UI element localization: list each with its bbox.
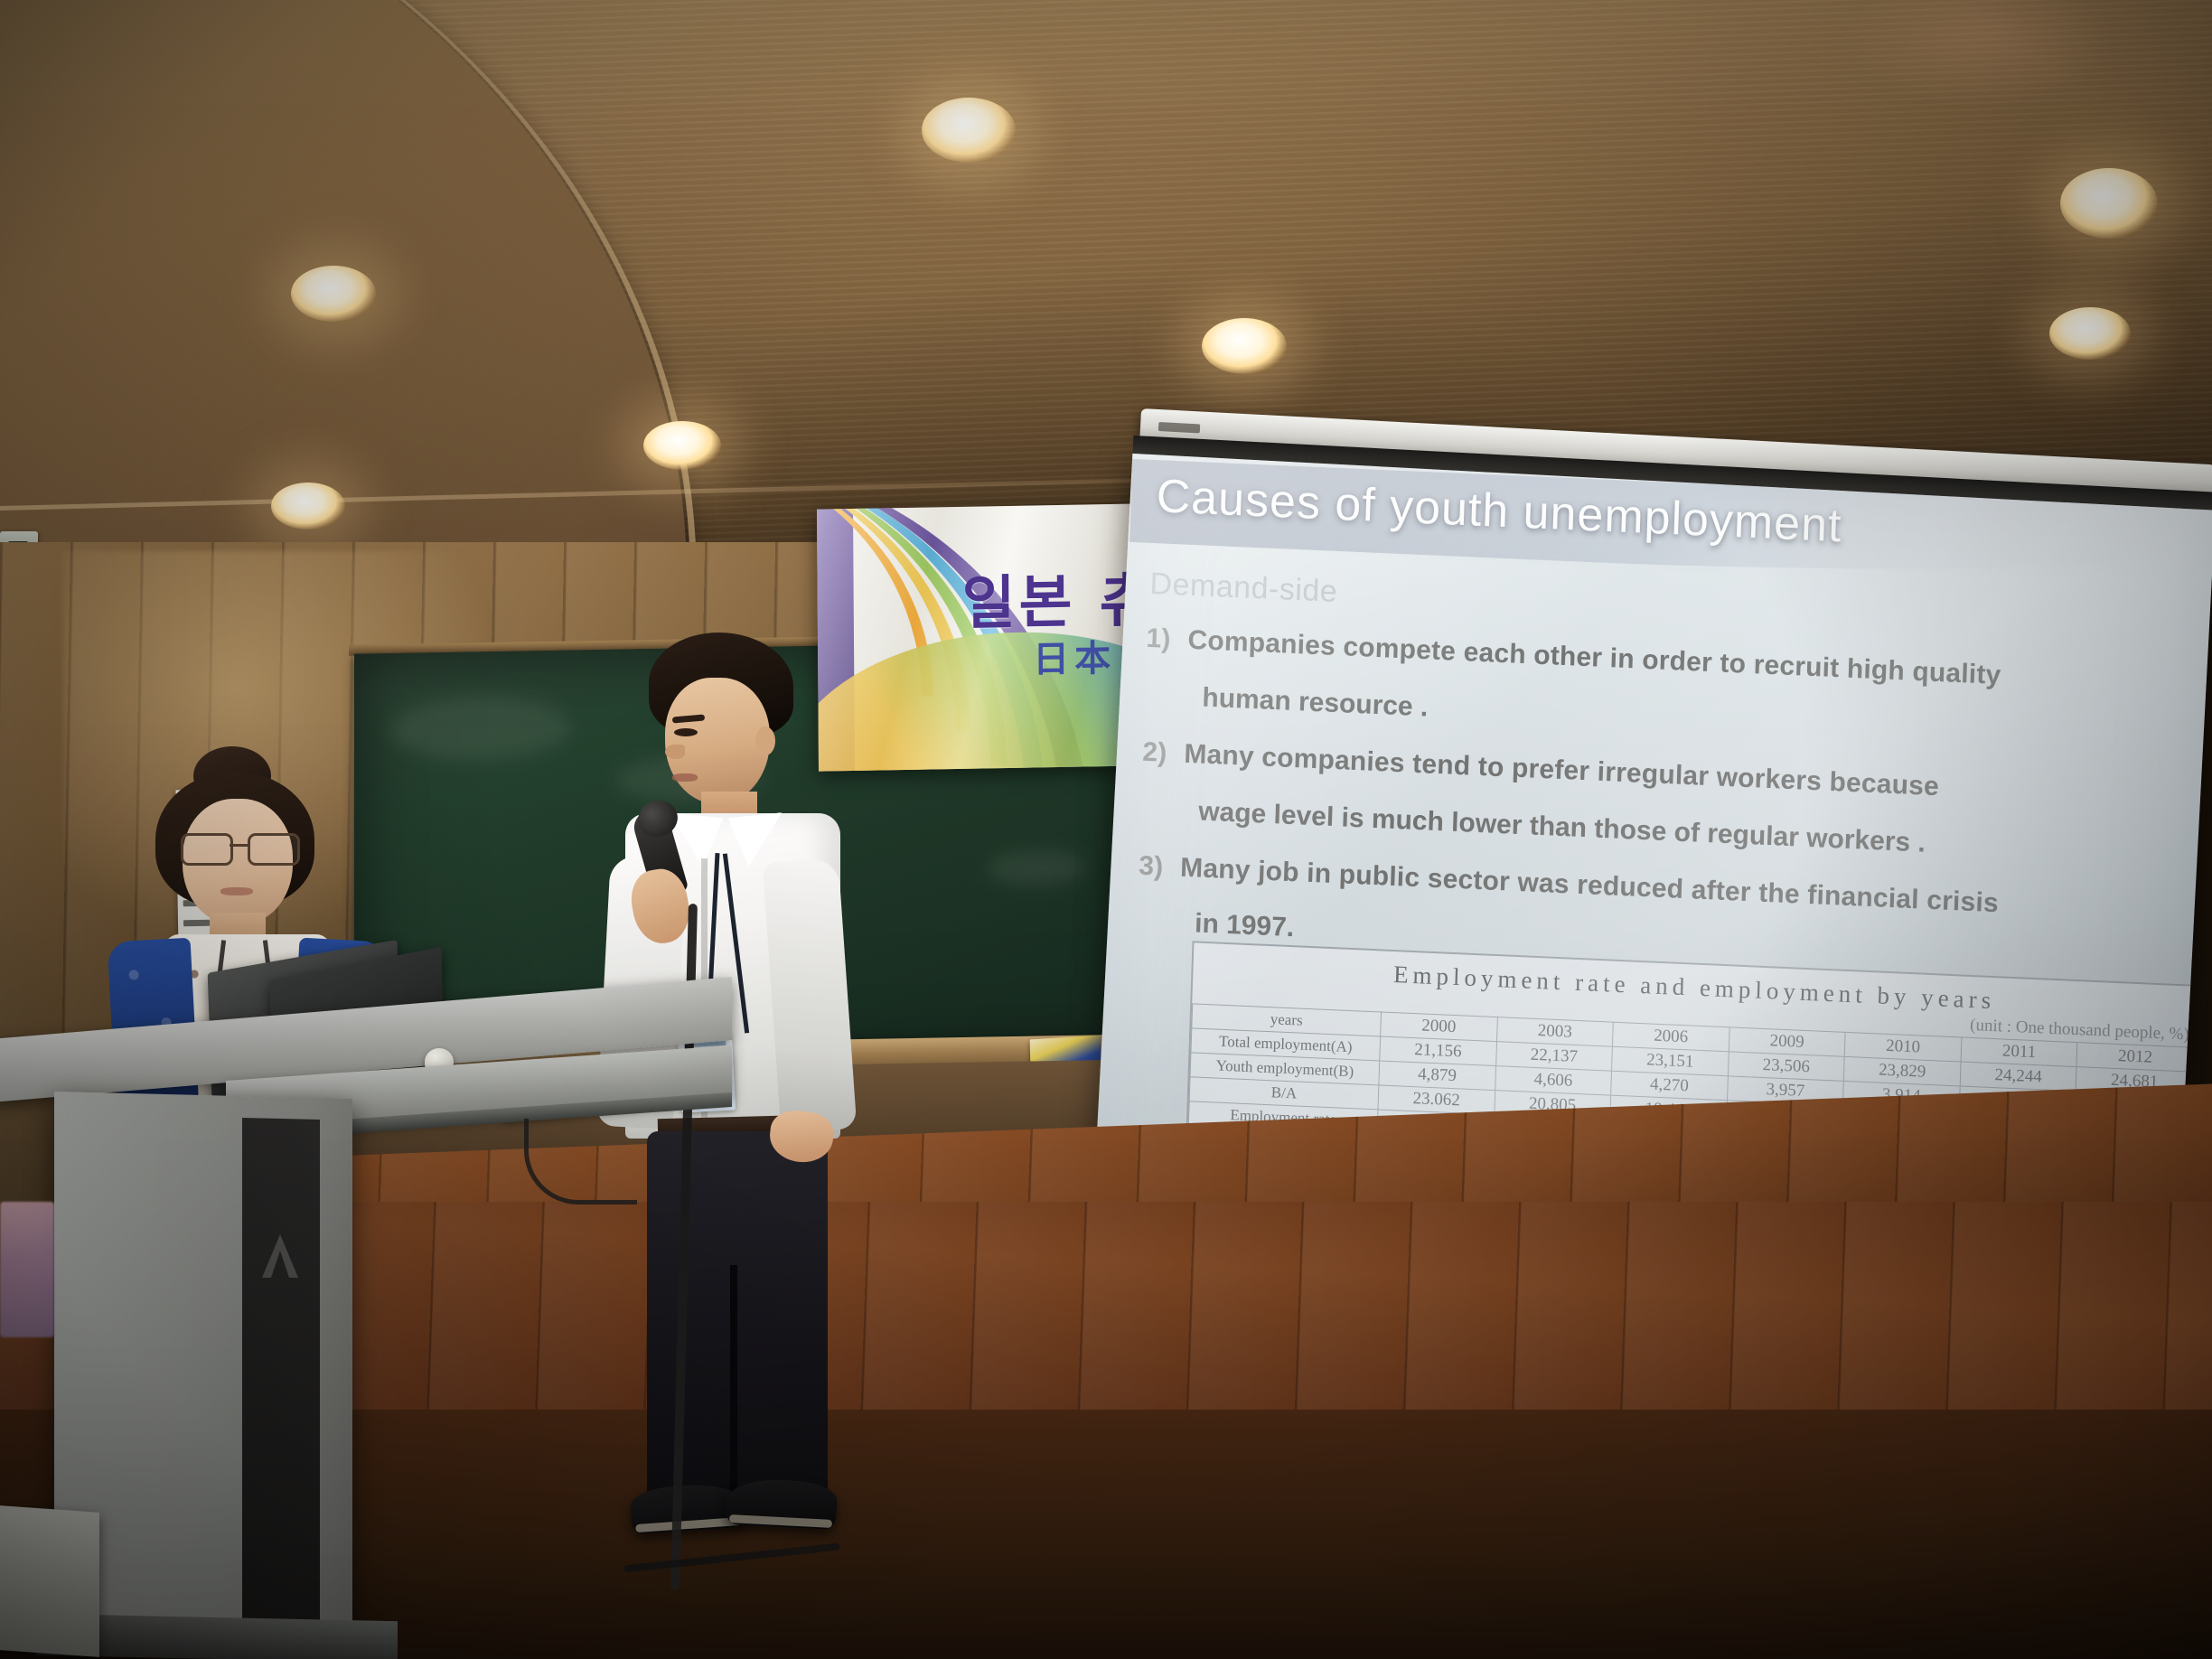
- eyeglass-lens-left: [181, 833, 233, 866]
- bullet-3-line1: Many job in public sector was reduced af…: [1180, 853, 2000, 919]
- presenter-eye: [674, 728, 698, 736]
- bag-on-floor: [0, 1202, 54, 1337]
- bullet-2-number: 2): [1142, 738, 1185, 768]
- presenter-mouth: [672, 773, 698, 782]
- eyeglass-bridge: [230, 844, 248, 847]
- equipment-box: [0, 1505, 99, 1657]
- slide-bullet-3: 3)Many job in public sector was reduced …: [1139, 852, 2212, 932]
- bullet-2-line1: Many companies tend to prefer irregular …: [1184, 739, 1940, 801]
- bullet-1-number: 1): [1146, 624, 1188, 654]
- ceiling-downlight-5: [2049, 307, 2131, 360]
- ceiling-downlight-1: [922, 98, 1016, 163]
- podium-logo-icon: [251, 1229, 309, 1287]
- presenter-ear: [755, 726, 775, 755]
- ceiling-downlight-3: [291, 266, 376, 322]
- ceiling-downlight-7: [271, 483, 345, 530]
- presenter-nose: [665, 745, 685, 759]
- operator-mouth: [220, 887, 253, 895]
- lecture-hall-photo: 일본 츄오 日本 中 Causes of youth unemployment …: [0, 0, 2212, 1659]
- bullet-1-line1: Companies compete each other in order to…: [1187, 625, 2001, 690]
- bullet-3-line2: in 1997.: [1195, 908, 1295, 943]
- slide-section-label: Demand-side: [1149, 567, 1338, 610]
- bullet-2-line2: wage level is much lower than those of r…: [1198, 796, 1926, 858]
- presenter-leg-separation: [730, 1265, 737, 1509]
- bullet-3-number: 3): [1139, 852, 1181, 882]
- eyeglasses: [179, 833, 298, 860]
- presenter-shoe-right: [726, 1477, 839, 1530]
- eyeglass-lens-right: [248, 833, 300, 866]
- podium-front-panel: [242, 1118, 320, 1659]
- ceiling-downlight-2: [2060, 168, 2158, 239]
- bullet-1-line2: human resource .: [1202, 683, 1429, 724]
- ceiling-downlight-6: [643, 421, 721, 470]
- ceiling-downlight-4: [1202, 318, 1287, 374]
- presenter-face: [665, 678, 770, 804]
